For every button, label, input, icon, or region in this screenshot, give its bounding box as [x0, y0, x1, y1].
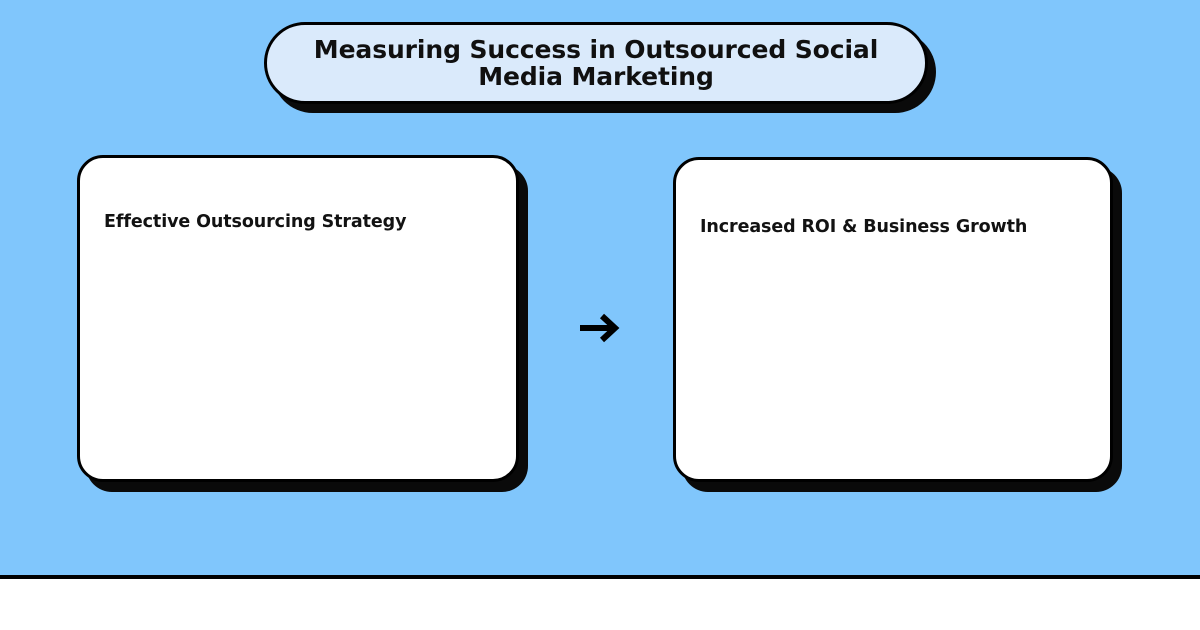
- page-title: Measuring Success in Outsourced Social M…: [293, 36, 899, 91]
- footer-strip: [0, 579, 1200, 630]
- flow-node-2-title: Increased ROI & Business Growth: [700, 217, 1092, 239]
- arrow-right-icon: [578, 308, 624, 348]
- flow-connector: [573, 300, 629, 356]
- infographic-canvas: Measuring Success in Outsourced Social M…: [0, 0, 1200, 630]
- flow-node-1[interactable]: Effective Outsourcing Strategy: [77, 155, 519, 482]
- flow-node-2[interactable]: Increased ROI & Business Growth: [673, 157, 1113, 482]
- title-banner: Measuring Success in Outsourced Social M…: [264, 22, 928, 104]
- flow-node-1-title: Effective Outsourcing Strategy: [104, 212, 498, 234]
